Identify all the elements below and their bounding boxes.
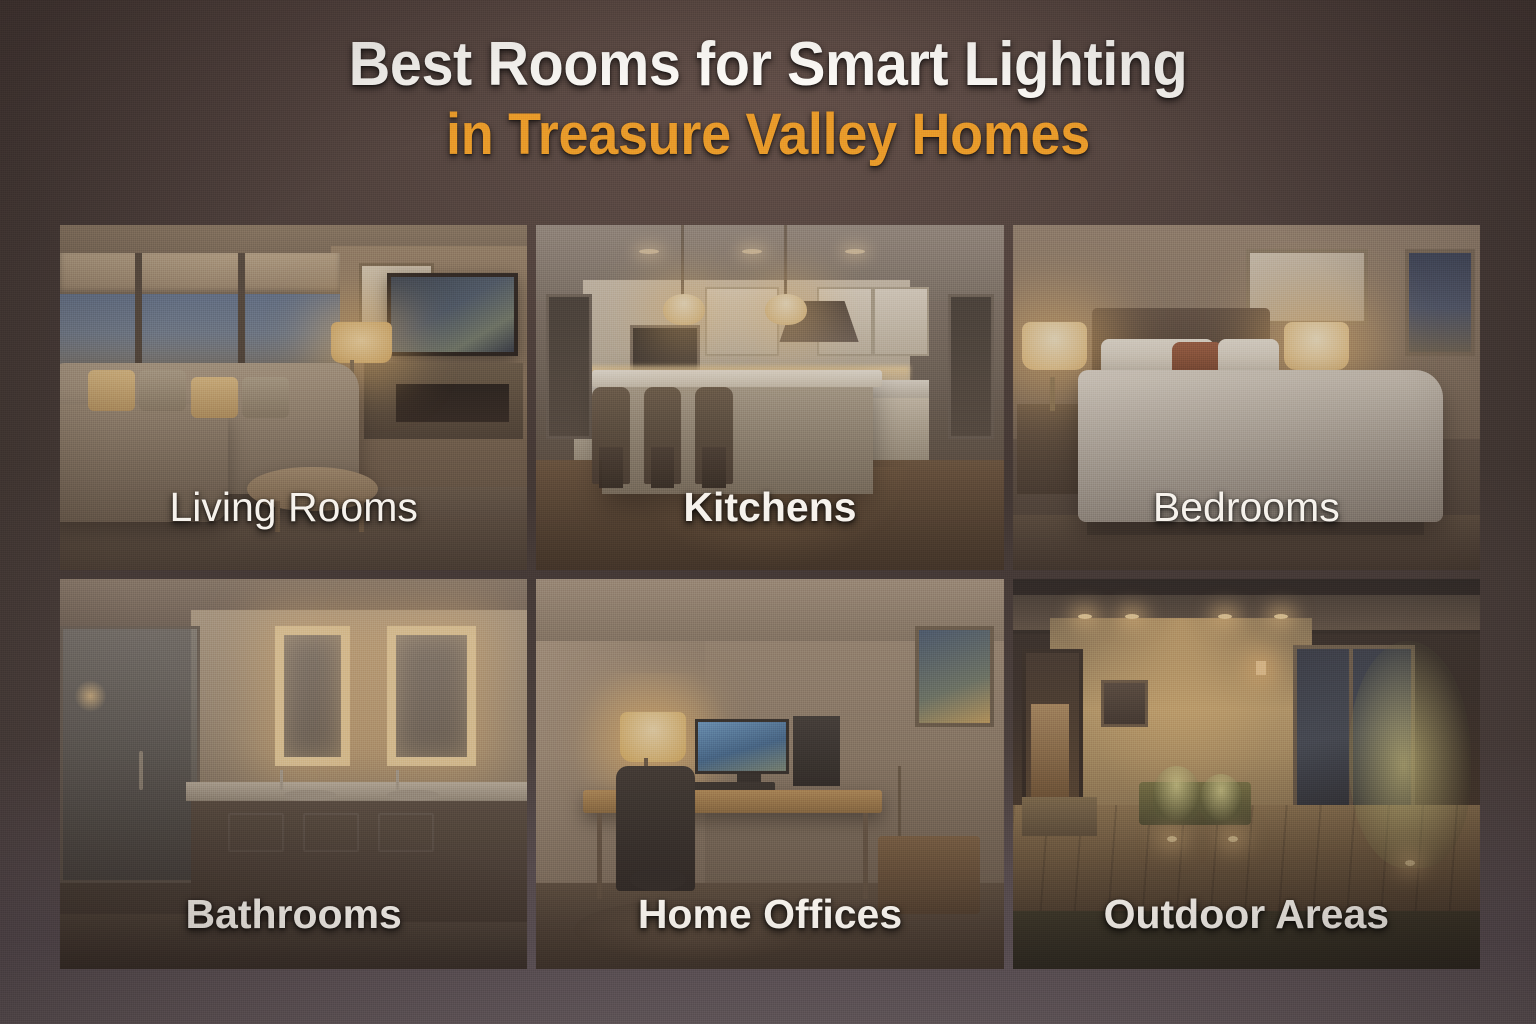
tile-outdoor-areas: Outdoor Areas [1013,579,1480,969]
tile-label-home-offices: Home Offices [536,894,1003,935]
infographic-poster: Best Rooms for Smart Lighting in Treasur… [0,0,1536,1024]
tile-label-outdoor-areas: Outdoor Areas [1013,894,1480,935]
tile-home-offices: Home Offices [536,579,1003,969]
room-grid: Living Rooms [60,225,1480,975]
poster-subtitle: in Treasure Valley Homes [54,105,1482,164]
tile-label-bathrooms: Bathrooms [60,894,527,935]
poster-header: Best Rooms for Smart Lighting in Treasur… [0,0,1536,164]
tile-bathrooms: Bathrooms [60,579,527,969]
tile-kitchens: Kitchens [536,225,1003,570]
tile-label-bedrooms: Bedrooms [1013,487,1480,528]
tile-label-living-rooms: Living Rooms [60,487,527,528]
tile-label-kitchens: Kitchens [536,487,1003,528]
poster-title: Best Rooms for Smart Lighting [54,33,1482,96]
tile-living-rooms: Living Rooms [60,225,527,570]
tile-bedrooms: Bedrooms [1013,225,1480,570]
